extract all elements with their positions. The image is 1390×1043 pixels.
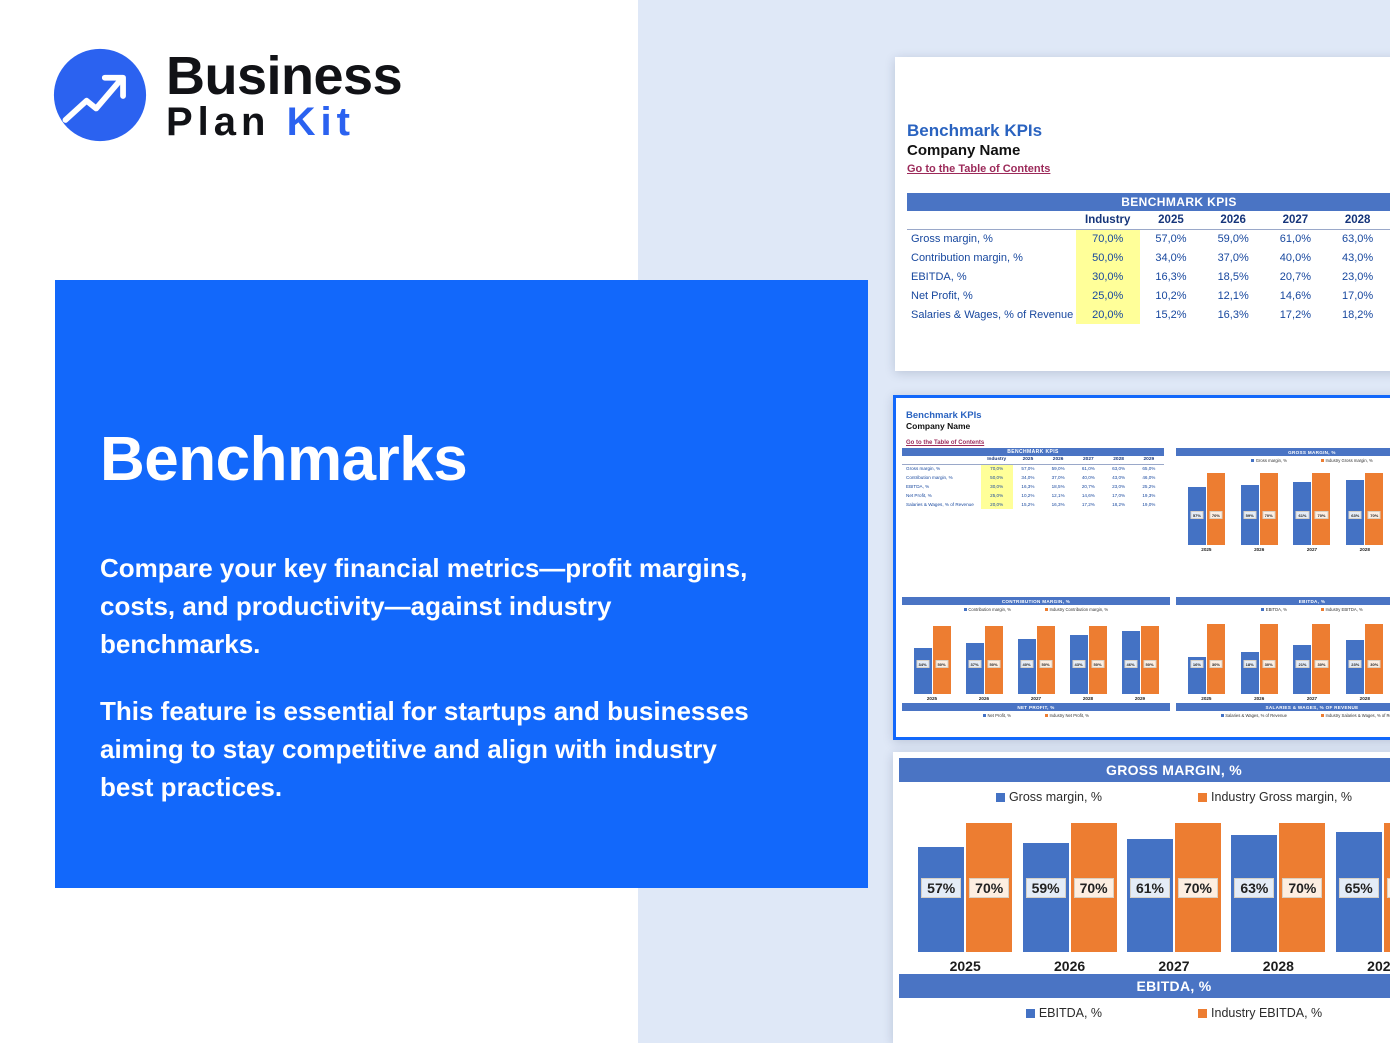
bar-data-label: 70% xyxy=(1282,878,1322,898)
page-title: Benchmarks xyxy=(100,424,760,495)
cell-value: 23,0% xyxy=(1327,267,1389,286)
chart-gross-margin-big[interactable]: GROSS MARGIN, % Gross margin, % Industry… xyxy=(893,752,1390,974)
cell-value: 12,1% xyxy=(1043,491,1073,500)
cell-value: 63,0% xyxy=(1327,229,1389,248)
x-axis-label: 2028 xyxy=(1342,696,1388,701)
bar-company: 63% xyxy=(1346,480,1364,545)
bar-industry: 70% xyxy=(1384,823,1390,953)
cell-industry: 50,0% xyxy=(1076,248,1140,267)
legend-swatch-blue-icon xyxy=(983,714,986,717)
sheet-header-mini: Benchmark KPIs Company Name Go to the Ta… xyxy=(896,398,1390,449)
cell-value: 16,3% xyxy=(1202,305,1264,324)
bar-industry: 50% xyxy=(933,626,951,694)
bar-group: 59%70% xyxy=(1021,804,1119,952)
cell-value: 12,1% xyxy=(1202,286,1264,305)
bar-industry: 30% xyxy=(1260,624,1278,694)
benchmark-kpi-table: BENCHMARK KPISIndustry202520262027202820… xyxy=(907,193,1390,324)
brand-name-line2: Plan Kit xyxy=(166,103,402,141)
legend-item-company: Gross margin, % xyxy=(996,790,1102,804)
cell-value: 14,6% xyxy=(1264,286,1326,305)
bar-industry: 50% xyxy=(985,626,1003,694)
x-axis-label: 2028 xyxy=(1065,696,1111,701)
chart-legend: EBITDA, % Industry EBITDA, % xyxy=(1176,605,1390,612)
row-label: Gross margin, % xyxy=(907,229,1076,248)
cell-value: 16,3% xyxy=(1140,267,1202,286)
cell-value: 17,0% xyxy=(1103,491,1133,500)
bar-data-label: 65% xyxy=(1339,878,1379,898)
chart-legend-net-profit: Net Profit, % Industry Net Profit, % xyxy=(902,711,1170,718)
x-axis-label: 2028 xyxy=(1342,547,1388,552)
bar-company: 61% xyxy=(1127,839,1173,952)
legend-swatch-blue-icon xyxy=(964,608,967,611)
cell-value: 59,0% xyxy=(1043,464,1073,473)
chart-plot-area: 16%30%18%30%21%30%23%30%25%30% xyxy=(1176,612,1390,694)
cell-industry: 20,0% xyxy=(1076,305,1140,324)
chart-title: GROSS MARGIN, % xyxy=(899,758,1390,782)
chart-x-axis: 20252026202720282029 xyxy=(1176,545,1390,552)
bar-industry: 70% xyxy=(1207,473,1225,545)
table-row: Contribution margin, %50,0%34,0%37,0%40,… xyxy=(907,248,1390,267)
legend-swatch-orange-icon xyxy=(1198,793,1207,802)
bar-industry: 50% xyxy=(1037,626,1055,694)
x-axis-label: 2027 xyxy=(1289,547,1335,552)
row-label: Net Profit, % xyxy=(907,286,1076,305)
bar-company: 18% xyxy=(1241,652,1259,694)
x-axis-label: 2025 xyxy=(1183,547,1229,552)
table-of-contents-link[interactable]: Go to the Table of Contents xyxy=(906,440,984,446)
cell-value: 15,2% xyxy=(1140,305,1202,324)
bar-industry: 70% xyxy=(1175,823,1221,953)
column-header-2026: 2026 xyxy=(1043,456,1073,464)
bar-company: 46% xyxy=(1122,631,1140,694)
legend-item-company: Salaries & Wages, % of Revenue xyxy=(1221,713,1287,718)
cell-value: 61,0% xyxy=(1073,464,1103,473)
hero-paragraph-1: Compare your key financial metrics—profi… xyxy=(100,549,760,664)
row-label: Contribution margin, % xyxy=(902,473,981,482)
cell-value: 37,0% xyxy=(1202,248,1264,267)
legend-swatch-orange-icon xyxy=(1321,608,1324,611)
spreadsheet-panel-gross-margin-chart[interactable]: GROSS MARGIN, % Gross margin, % Industry… xyxy=(893,752,1390,1043)
x-axis-label: 2026 xyxy=(1236,696,1282,701)
dashboard-grid: BENCHMARK KPISIndustry202520262027202820… xyxy=(902,448,1390,731)
bar-group: 65%70% xyxy=(1334,804,1390,952)
bar-data-label: 50% xyxy=(1143,660,1156,668)
bar-data-label: 34% xyxy=(916,660,929,668)
sheet-header: Benchmark KPIs Company Name Go to the Ta… xyxy=(895,57,1390,177)
chart-gross-margin-mini[interactable]: GROSS MARGIN, % Gross margin, % Industry… xyxy=(1176,448,1390,593)
bar-data-label: 61% xyxy=(1296,511,1309,519)
x-axis-label: 2029 xyxy=(1334,958,1390,974)
table-row: Net Profit, %25,0%10,2%12,1%14,6%17,0%19… xyxy=(902,491,1164,500)
bar-data-label: 50% xyxy=(1039,660,1052,668)
legend-swatch-blue-icon xyxy=(996,793,1005,802)
legend-item-company: EBITDA, % xyxy=(1026,1006,1102,1020)
cell-value: 40,0% xyxy=(1264,248,1326,267)
cell-value: 19,0% xyxy=(1134,500,1164,509)
legend-swatch-blue-icon xyxy=(1261,608,1264,611)
cell-value: 20,7% xyxy=(1264,267,1326,286)
benchmark-kpi-table-mini: BENCHMARK KPISIndustry202520262027202820… xyxy=(902,448,1164,509)
cell-industry: 25,0% xyxy=(981,491,1013,500)
bar-data-label: 16% xyxy=(1190,660,1203,668)
cell-industry: 70,0% xyxy=(981,464,1013,473)
chart-plot-area: 57%70%59%70%61%70%63%70%65%70% xyxy=(899,804,1390,952)
bar-group: 46%50% xyxy=(1117,612,1163,694)
bar-data-label: 70% xyxy=(1315,511,1328,519)
cell-value: 14,6% xyxy=(1073,491,1103,500)
legend-label: Industry Salaries & Wages, % of Revenue xyxy=(1325,713,1390,718)
table-row: Salaries & Wages, % of Revenue20,0%15,2%… xyxy=(902,500,1164,509)
bar-group: 40%50% xyxy=(1013,612,1059,694)
cell-value: 46,0% xyxy=(1134,473,1164,482)
row-label: Salaries & Wages, % of Revenue xyxy=(907,305,1076,324)
cell-value: 18,2% xyxy=(1327,305,1389,324)
row-label: Contribution margin, % xyxy=(907,248,1076,267)
column-header xyxy=(907,211,1076,229)
bar-group: 23%30% xyxy=(1342,612,1388,694)
cell-value: 65,0% xyxy=(1134,464,1164,473)
chart-x-axis: 20252026202720282029 xyxy=(902,694,1170,701)
cell-value: 61,0% xyxy=(1264,229,1326,248)
bar-company: 63% xyxy=(1231,835,1277,952)
chart-title: CONTRIBUTION MARGIN, % xyxy=(902,597,1170,605)
brand-word-kit: Kit xyxy=(287,100,355,144)
bar-company: 59% xyxy=(1241,485,1259,545)
spreadsheet-panel-dashboard[interactable]: Benchmark KPIs Company Name Go to the Ta… xyxy=(893,395,1390,740)
chart-legend: Gross margin, % Industry Gross margin, % xyxy=(899,782,1390,804)
bar-industry: 70% xyxy=(1365,473,1383,545)
bar-data-label: 70% xyxy=(1178,878,1218,898)
bar-company: 40% xyxy=(1018,639,1036,694)
column-header xyxy=(902,456,981,464)
legend-swatch-blue-icon xyxy=(1251,459,1254,462)
bar-company: 61% xyxy=(1293,482,1311,545)
table-header-row: Industry20252026202720282029 xyxy=(907,211,1390,229)
chart-title: GROSS MARGIN, % xyxy=(1176,448,1390,456)
bar-data-label: 70% xyxy=(1368,511,1381,519)
bar-industry: 70% xyxy=(1312,473,1330,545)
bar-data-label: 50% xyxy=(935,660,948,668)
table-band-label: BENCHMARK KPIS xyxy=(902,448,1164,456)
chart-title: EBITDA, % xyxy=(1176,597,1390,605)
legend-swatch-orange-icon xyxy=(1321,714,1324,717)
bar-data-label: 70% xyxy=(1074,878,1114,898)
x-axis-label: 2025 xyxy=(916,958,1014,974)
bar-group: 61%70% xyxy=(1289,463,1335,545)
bar-group: 43%50% xyxy=(1065,612,1111,694)
bar-data-label: 59% xyxy=(1026,878,1066,898)
column-header-2028: 2028 xyxy=(1327,211,1389,229)
cell-value: 15,2% xyxy=(1013,500,1043,509)
table-band-row: BENCHMARK KPIS xyxy=(902,448,1164,456)
cell-value: 16,3% xyxy=(1013,482,1043,491)
cell-industry: 30,0% xyxy=(981,482,1013,491)
bar-industry: 50% xyxy=(1141,626,1159,694)
bar-company: 34% xyxy=(914,648,932,694)
legend-label: Gross margin, % xyxy=(1009,790,1102,804)
table-row: EBITDA, %30,0%16,3%18,5%20,7%23,0%25,2% xyxy=(902,482,1164,491)
table-row: Contribution margin, %50,0%34,0%37,0%40,… xyxy=(902,473,1164,482)
bar-industry: 30% xyxy=(1365,624,1383,694)
legend-label: Industry EBITDA, % xyxy=(1211,1006,1322,1020)
x-axis-label: 2026 xyxy=(961,696,1007,701)
bar-group: 59%70% xyxy=(1236,463,1282,545)
cell-industry: 70,0% xyxy=(1076,229,1140,248)
x-axis-label: 2025 xyxy=(909,696,955,701)
bar-data-label: 70% xyxy=(969,878,1009,898)
legend-label: EBITDA, % xyxy=(1039,1006,1102,1020)
x-axis-label: 2027 xyxy=(1013,696,1059,701)
chart-x-axis: 20252026202720282029 xyxy=(1176,694,1390,701)
table-band-row: BENCHMARK KPIS xyxy=(907,193,1390,211)
chart-legend: Contribution margin, % Industry Contribu… xyxy=(902,605,1170,612)
sheet-title: Benchmark KPIs xyxy=(907,121,1390,141)
kpi-table-wrapper: BENCHMARK KPISIndustry202520262027202820… xyxy=(895,177,1390,324)
row-label: Salaries & Wages, % of Revenue xyxy=(902,500,981,509)
table-row: Net Profit, %25,0%10,2%12,1%14,6%17,0%19… xyxy=(907,286,1390,305)
cell-value: 19,3% xyxy=(1134,491,1164,500)
bar-data-label: 37% xyxy=(968,660,981,668)
legend-swatch-orange-icon xyxy=(1045,608,1048,611)
bar-company: 57% xyxy=(918,847,964,952)
row-label: EBITDA, % xyxy=(902,482,981,491)
bar-industry: 30% xyxy=(1207,624,1225,694)
bar-company: 59% xyxy=(1023,843,1069,952)
bar-data-label: 63% xyxy=(1234,878,1274,898)
legend-label: Net Profit, % xyxy=(987,713,1011,718)
hero-paragraph-2: This feature is essential for startups a… xyxy=(100,692,760,807)
cell-value: 37,0% xyxy=(1043,473,1073,482)
bar-data-label: 50% xyxy=(1091,660,1104,668)
cell-value: 57,0% xyxy=(1140,229,1202,248)
kpi-table-body: BENCHMARK KPISIndustry202520262027202820… xyxy=(902,448,1164,509)
chart-plot-area: 57%70%59%70%61%70%63%70%65%70% xyxy=(1176,463,1390,545)
bar-data-label: 46% xyxy=(1124,660,1137,668)
bar-group: 34%50% xyxy=(909,612,955,694)
column-header-2029: 2029 xyxy=(1134,456,1164,464)
bar-group: 21%30% xyxy=(1289,612,1335,694)
legend-item-industry: Industry Gross margin, % xyxy=(1198,790,1352,804)
sheet-company-name: Company Name xyxy=(907,142,1390,159)
brand-logo: Business Plan Kit xyxy=(52,47,402,143)
legend-item-industry: Industry Net Profit, % xyxy=(1045,713,1089,718)
row-label: EBITDA, % xyxy=(907,267,1076,286)
bar-company: 65% xyxy=(1336,832,1382,952)
bar-group: 61%70% xyxy=(1125,804,1223,952)
cell-value: 43,0% xyxy=(1103,473,1133,482)
bar-data-label: 30% xyxy=(1209,660,1222,668)
table-band-label: BENCHMARK KPIS xyxy=(907,193,1390,211)
column-header-2025: 2025 xyxy=(1140,211,1202,229)
bar-data-label: 23% xyxy=(1349,660,1362,668)
bar-group: 18%30% xyxy=(1236,612,1282,694)
kpi-table-body: BENCHMARK KPISIndustry202520262027202820… xyxy=(907,193,1390,324)
cell-value: 63,0% xyxy=(1103,464,1133,473)
chart-contribution-margin-mini[interactable]: CONTRIBUTION MARGIN, % Contribution marg… xyxy=(902,597,1170,731)
x-axis-label: 2027 xyxy=(1125,958,1223,974)
bar-industry: 30% xyxy=(1312,624,1330,694)
table-header-row: Industry20252026202720282029 xyxy=(902,456,1164,464)
cell-industry: 30,0% xyxy=(1076,267,1140,286)
column-header-Industry: Industry xyxy=(1076,211,1140,229)
chart-x-axis: 20252026202720282029 xyxy=(899,952,1390,974)
chart-title: EBITDA, % xyxy=(899,974,1390,998)
cell-industry: 50,0% xyxy=(981,473,1013,482)
row-label: Gross margin, % xyxy=(902,464,981,473)
chart-ebitda-mini[interactable]: EBITDA, % EBITDA, % Industry EBITDA, % 1… xyxy=(1176,597,1390,731)
x-axis-label: 2025 xyxy=(1183,696,1229,701)
chart-plot-area: 34%50%37%50%40%50%43%50%46%50% xyxy=(902,612,1170,694)
cell-value: 17,0% xyxy=(1327,286,1389,305)
bar-data-label: 30% xyxy=(1315,660,1328,668)
column-header-2028: 2028 xyxy=(1103,456,1133,464)
table-row: EBITDA, %30,0%16,3%18,5%20,7%23,0%25,2% xyxy=(907,267,1390,286)
bar-industry: 70% xyxy=(966,823,1012,953)
legend-swatch-blue-icon xyxy=(1221,714,1224,717)
brand-name-line1: Business xyxy=(166,51,402,103)
cell-industry: 20,0% xyxy=(981,500,1013,509)
chart-title-net-profit: NET PROFIT, % xyxy=(902,703,1170,711)
bar-group: 63%70% xyxy=(1342,463,1388,545)
x-axis-label: 2026 xyxy=(1021,958,1119,974)
column-header-Industry: Industry xyxy=(981,456,1013,464)
cell-value: 17,2% xyxy=(1264,305,1326,324)
table-of-contents-link[interactable]: Go to the Table of Contents xyxy=(907,163,1050,175)
bar-data-label: 43% xyxy=(1072,660,1085,668)
bar-group: 57%70% xyxy=(1183,463,1229,545)
column-header-2027: 2027 xyxy=(1073,456,1103,464)
table-row: Gross margin, %70,0%57,0%59,0%61,0%63,0%… xyxy=(902,464,1164,473)
bar-data-label: 63% xyxy=(1349,511,1362,519)
sheet-company-name: Company Name xyxy=(906,421,1390,431)
bar-group: 57%70% xyxy=(916,804,1014,952)
bar-data-label: 57% xyxy=(1190,511,1203,519)
chart-legend: EBITDA, % Industry EBITDA, % xyxy=(899,998,1390,1020)
cell-value: 59,0% xyxy=(1202,229,1264,248)
brand-word-plan: Plan xyxy=(166,100,270,144)
bar-industry: 70% xyxy=(1279,823,1325,953)
cell-value: 34,0% xyxy=(1140,248,1202,267)
column-header-2025: 2025 xyxy=(1013,456,1043,464)
cell-value: 17,2% xyxy=(1073,500,1103,509)
legend-swatch-orange-icon xyxy=(1321,459,1324,462)
chart-legend: Gross margin, % Industry Gross margin, % xyxy=(1176,456,1390,463)
chart-title-salaries: SALARIES & WAGES, % OF REVENUE xyxy=(1176,703,1390,711)
x-axis-label: 2028 xyxy=(1229,958,1327,974)
cell-value: 18,2% xyxy=(1103,500,1133,509)
legend-item-company: Net Profit, % xyxy=(983,713,1011,718)
cell-value: 34,0% xyxy=(1013,473,1043,482)
cell-value: 43,0% xyxy=(1327,248,1389,267)
bar-data-label: 57% xyxy=(921,878,961,898)
bar-company: 43% xyxy=(1070,635,1088,694)
column-header-2027: 2027 xyxy=(1264,211,1326,229)
kpi-table-wrapper-mini: BENCHMARK KPISIndustry202520262027202820… xyxy=(902,448,1170,593)
legend-label: Industry Net Profit, % xyxy=(1049,713,1089,718)
bar-group: 16%30% xyxy=(1183,612,1229,694)
slide-canvas: Business Plan Kit Benchmarks Compare you… xyxy=(0,0,1390,1043)
bar-data-label: 59% xyxy=(1243,511,1256,519)
bar-data-label: 61% xyxy=(1130,878,1170,898)
bar-company: 57% xyxy=(1188,487,1206,545)
growth-arrow-chart-icon xyxy=(52,47,148,143)
bar-industry: 70% xyxy=(1260,473,1278,545)
bar-company: 37% xyxy=(966,643,984,694)
bar-company: 16% xyxy=(1188,657,1206,694)
sheet-title: Benchmark KPIs xyxy=(906,410,1390,421)
cell-value: 57,0% xyxy=(1013,464,1043,473)
hero-content: Benchmarks Compare your key financial me… xyxy=(100,424,760,834)
bar-data-label: 30% xyxy=(1368,660,1381,668)
cell-value: 10,2% xyxy=(1140,286,1202,305)
spreadsheet-panel-kpi-table[interactable]: Benchmark KPIs Company Name Go to the Ta… xyxy=(895,57,1390,371)
legend-item-industry: Industry Salaries & Wages, % of Revenue xyxy=(1321,713,1390,718)
chart-ebitda-big[interactable]: EBITDA, % EBITDA, % Industry EBITDA, % xyxy=(893,974,1390,1020)
bar-data-label: 21% xyxy=(1296,660,1309,668)
legend-swatch-orange-icon xyxy=(1045,714,1048,717)
bar-data-label: 40% xyxy=(1020,660,1033,668)
cell-value: 20,7% xyxy=(1073,482,1103,491)
bar-data-label: 70% xyxy=(1262,511,1275,519)
table-row: Salaries & Wages, % of Revenue20,0%15,2%… xyxy=(907,305,1390,324)
legend-label: Salaries & Wages, % of Revenue xyxy=(1225,713,1287,718)
table-row: Gross margin, %70,0%57,0%59,0%61,0%63,0%… xyxy=(907,229,1390,248)
cell-industry: 25,0% xyxy=(1076,286,1140,305)
bar-industry: 70% xyxy=(1071,823,1117,953)
x-axis-label: 2027 xyxy=(1289,696,1335,701)
bar-industry: 50% xyxy=(1089,626,1107,694)
bar-data-label: 30% xyxy=(1262,660,1275,668)
bar-group: 63%70% xyxy=(1229,804,1327,952)
bar-company: 21% xyxy=(1293,645,1311,694)
cell-value: 16,3% xyxy=(1043,500,1073,509)
x-axis-label: 2029 xyxy=(1117,696,1163,701)
bar-data-label: 50% xyxy=(987,660,1000,668)
x-axis-label: 2026 xyxy=(1236,547,1282,552)
chart-legend-salaries: Salaries & Wages, % of Revenue Industry … xyxy=(1176,711,1390,718)
row-label: Net Profit, % xyxy=(902,491,981,500)
cell-value: 18,5% xyxy=(1202,267,1264,286)
legend-label: Industry Gross margin, % xyxy=(1211,790,1352,804)
bar-data-label: 18% xyxy=(1243,660,1256,668)
cell-value: 25,2% xyxy=(1134,482,1164,491)
column-header-2026: 2026 xyxy=(1202,211,1264,229)
cell-value: 10,2% xyxy=(1013,491,1043,500)
legend-item-industry: Industry EBITDA, % xyxy=(1198,1006,1322,1020)
bar-group: 37%50% xyxy=(961,612,1007,694)
legend-swatch-orange-icon xyxy=(1198,1009,1207,1018)
cell-value: 23,0% xyxy=(1103,482,1133,491)
legend-swatch-blue-icon xyxy=(1026,1009,1035,1018)
bar-company: 23% xyxy=(1346,640,1364,694)
bar-data-label: 70% xyxy=(1209,511,1222,519)
cell-value: 40,0% xyxy=(1073,473,1103,482)
cell-value: 18,5% xyxy=(1043,482,1073,491)
